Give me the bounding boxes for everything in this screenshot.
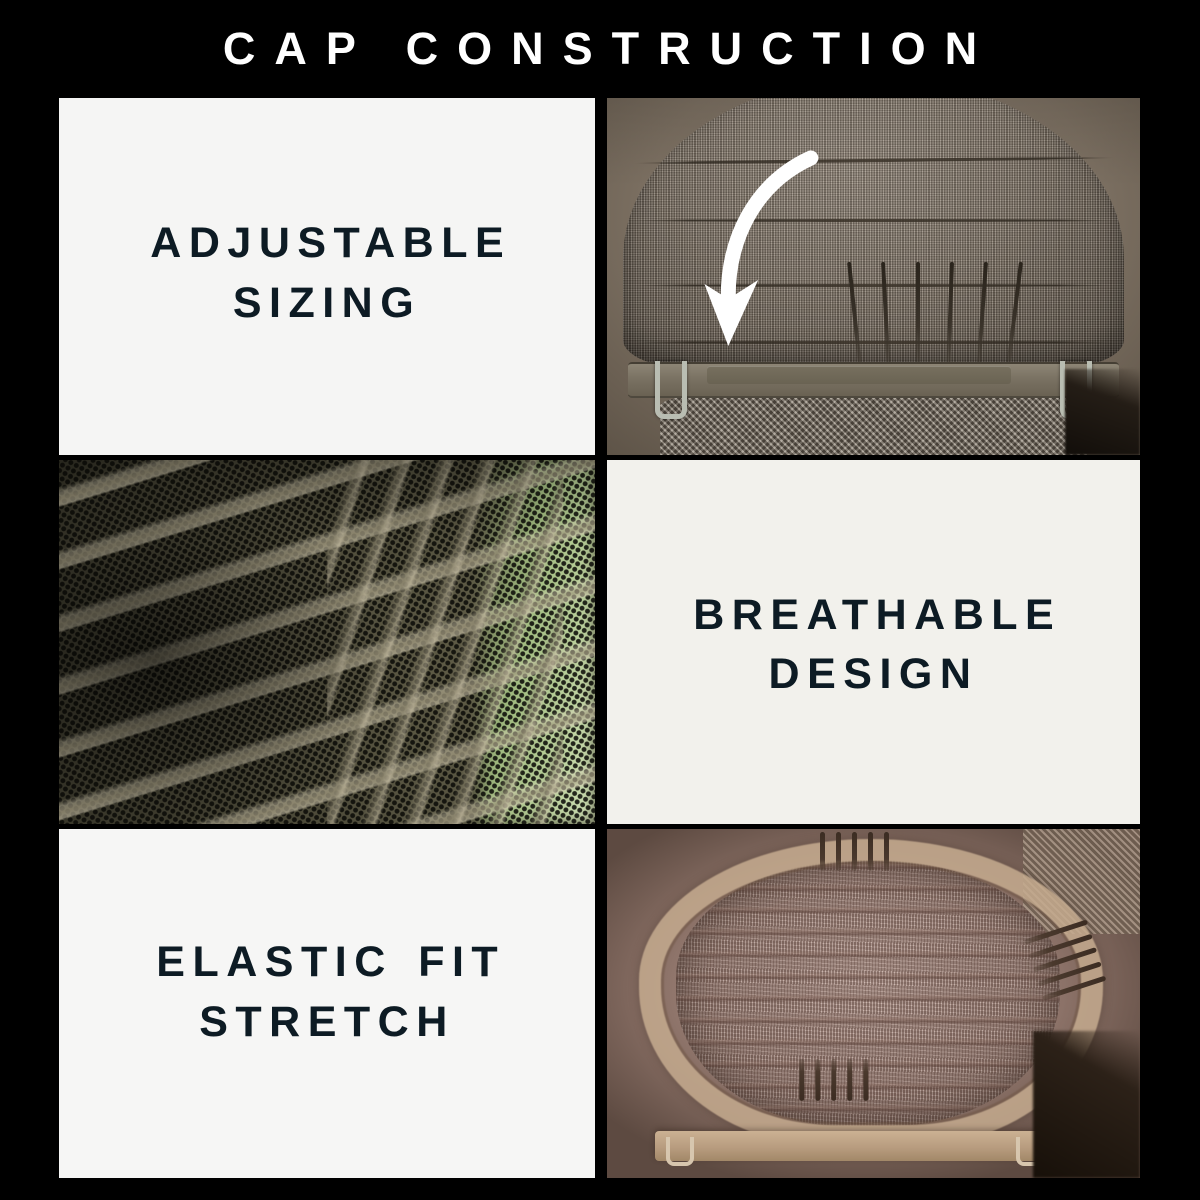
photo-wig-cap-interior	[607, 829, 1140, 1178]
strap-band	[707, 366, 1011, 385]
strap-hook-left-icon	[655, 361, 687, 420]
feature-card-breathable-design[interactable]: BREATHABLE DESIGN	[607, 460, 1140, 824]
interior-hook-left-icon	[666, 1137, 694, 1165]
feature-label-adjustable-sizing: ADJUSTABLE SIZING	[80, 214, 573, 333]
photo-wig-cap-back	[607, 98, 1140, 455]
adjustable-strap	[628, 362, 1118, 398]
feature-card-elastic-fit-stretch[interactable]: ELASTIC FIT STRETCH	[59, 829, 595, 1178]
feature-label-breathable-design: BREATHABLE DESIGN	[628, 586, 1118, 705]
page-title: CAP CONSTRUCTION	[204, 26, 996, 71]
comb-top	[820, 832, 889, 870]
mesh-shading	[59, 460, 595, 824]
cap-construction-infographic: CAP CONSTRUCTION ADJUSTABLE SIZING	[0, 0, 1200, 1200]
header: CAP CONSTRUCTION	[0, 0, 1200, 96]
feature-grid: ADJUSTABLE SIZING	[59, 98, 1140, 1185]
comb-bottom	[799, 1059, 868, 1101]
hair-strands	[1065, 369, 1140, 455]
cap-comb-teeth	[847, 262, 1023, 369]
feature-label-elastic-fit-stretch: ELASTIC FIT STRETCH	[80, 933, 573, 1052]
hair-strands	[1033, 1031, 1140, 1178]
photo-breathable-mesh	[59, 460, 595, 824]
feature-card-adjustable-sizing[interactable]: ADJUSTABLE SIZING	[59, 98, 595, 455]
